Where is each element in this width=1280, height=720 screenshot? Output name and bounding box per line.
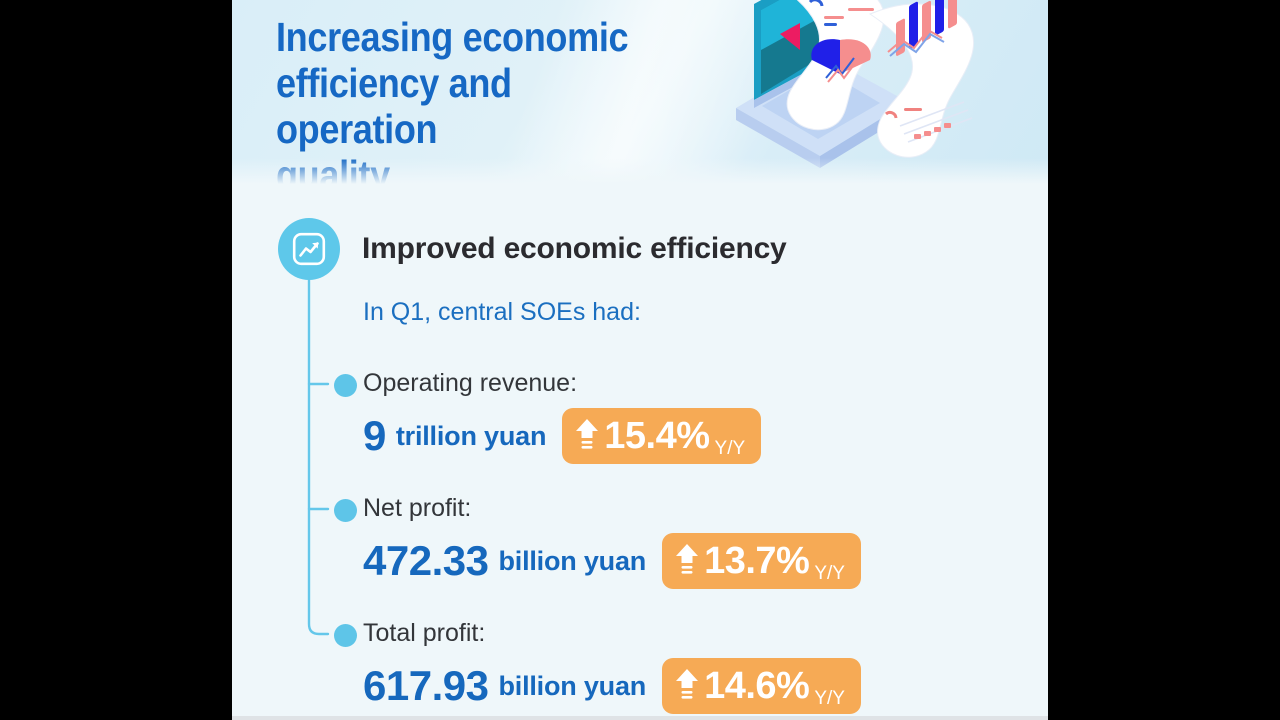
bullet-dot-icon [334,624,357,647]
arrow-up-icon [574,417,600,456]
metric-unit: trillion yuan [396,423,546,450]
metric-value-row: 617.93 billion yuan 14.6% Y/Y [363,658,861,714]
section-intro-text: In Q1, central SOEs had: [363,298,641,327]
metric-change-badge: 15.4% Y/Y [562,408,761,464]
arrow-up-icon [674,542,700,581]
metric-change-value: 13.7% [704,542,809,580]
metric-value-row: 9 trillion yuan 15.4% Y/Y [363,408,761,464]
laptop-with-report-charts-illustration [728,0,1028,180]
bullet-dot-icon [334,499,357,522]
metric-total-profit: Total profit: 617.93 billion yuan 14.6% [363,618,861,714]
metric-label: Net profit: [363,493,861,523]
metric-value: 9 [363,415,386,457]
section-header: Improved economic efficiency [278,218,787,280]
metric-change-period: Y/Y [814,564,845,583]
content-area: Improved economic efficiency In Q1, cent… [232,184,1048,720]
metric-value: 617.93 [363,665,488,707]
metric-change-badge: 14.6% Y/Y [662,658,861,714]
metric-change-value: 15.4% [604,417,709,455]
metric-change-badge: 13.7% Y/Y [662,533,861,589]
trend-chart-icon [278,218,340,280]
metric-value-row: 472.33 billion yuan 13.7% Y/Y [363,533,861,589]
metric-unit: billion yuan [498,673,646,700]
header-bottom-fade [232,158,1048,184]
metric-unit: billion yuan [498,548,646,575]
arrow-up-icon [674,667,700,706]
metric-operating-revenue: Operating revenue: 9 trillion yuan 15.4% [363,368,761,464]
metric-change-period: Y/Y [715,439,746,458]
metric-net-profit: Net profit: 472.33 billion yuan 13.7% [363,493,861,589]
screenshot-stage: Increasing economic efficiency and opera… [0,0,1280,720]
metric-value: 472.33 [363,540,488,582]
bottom-divider [232,716,1048,720]
metric-change-value: 14.6% [704,667,809,705]
bullet-dot-icon [334,374,357,397]
section-title: Improved economic efficiency [362,232,787,266]
metric-label: Total profit: [363,618,861,648]
metric-change-period: Y/Y [814,689,845,708]
infographic-card: Increasing economic efficiency and opera… [232,0,1048,720]
metric-label: Operating revenue: [363,368,761,398]
header-banner: Increasing economic efficiency and opera… [232,0,1048,184]
